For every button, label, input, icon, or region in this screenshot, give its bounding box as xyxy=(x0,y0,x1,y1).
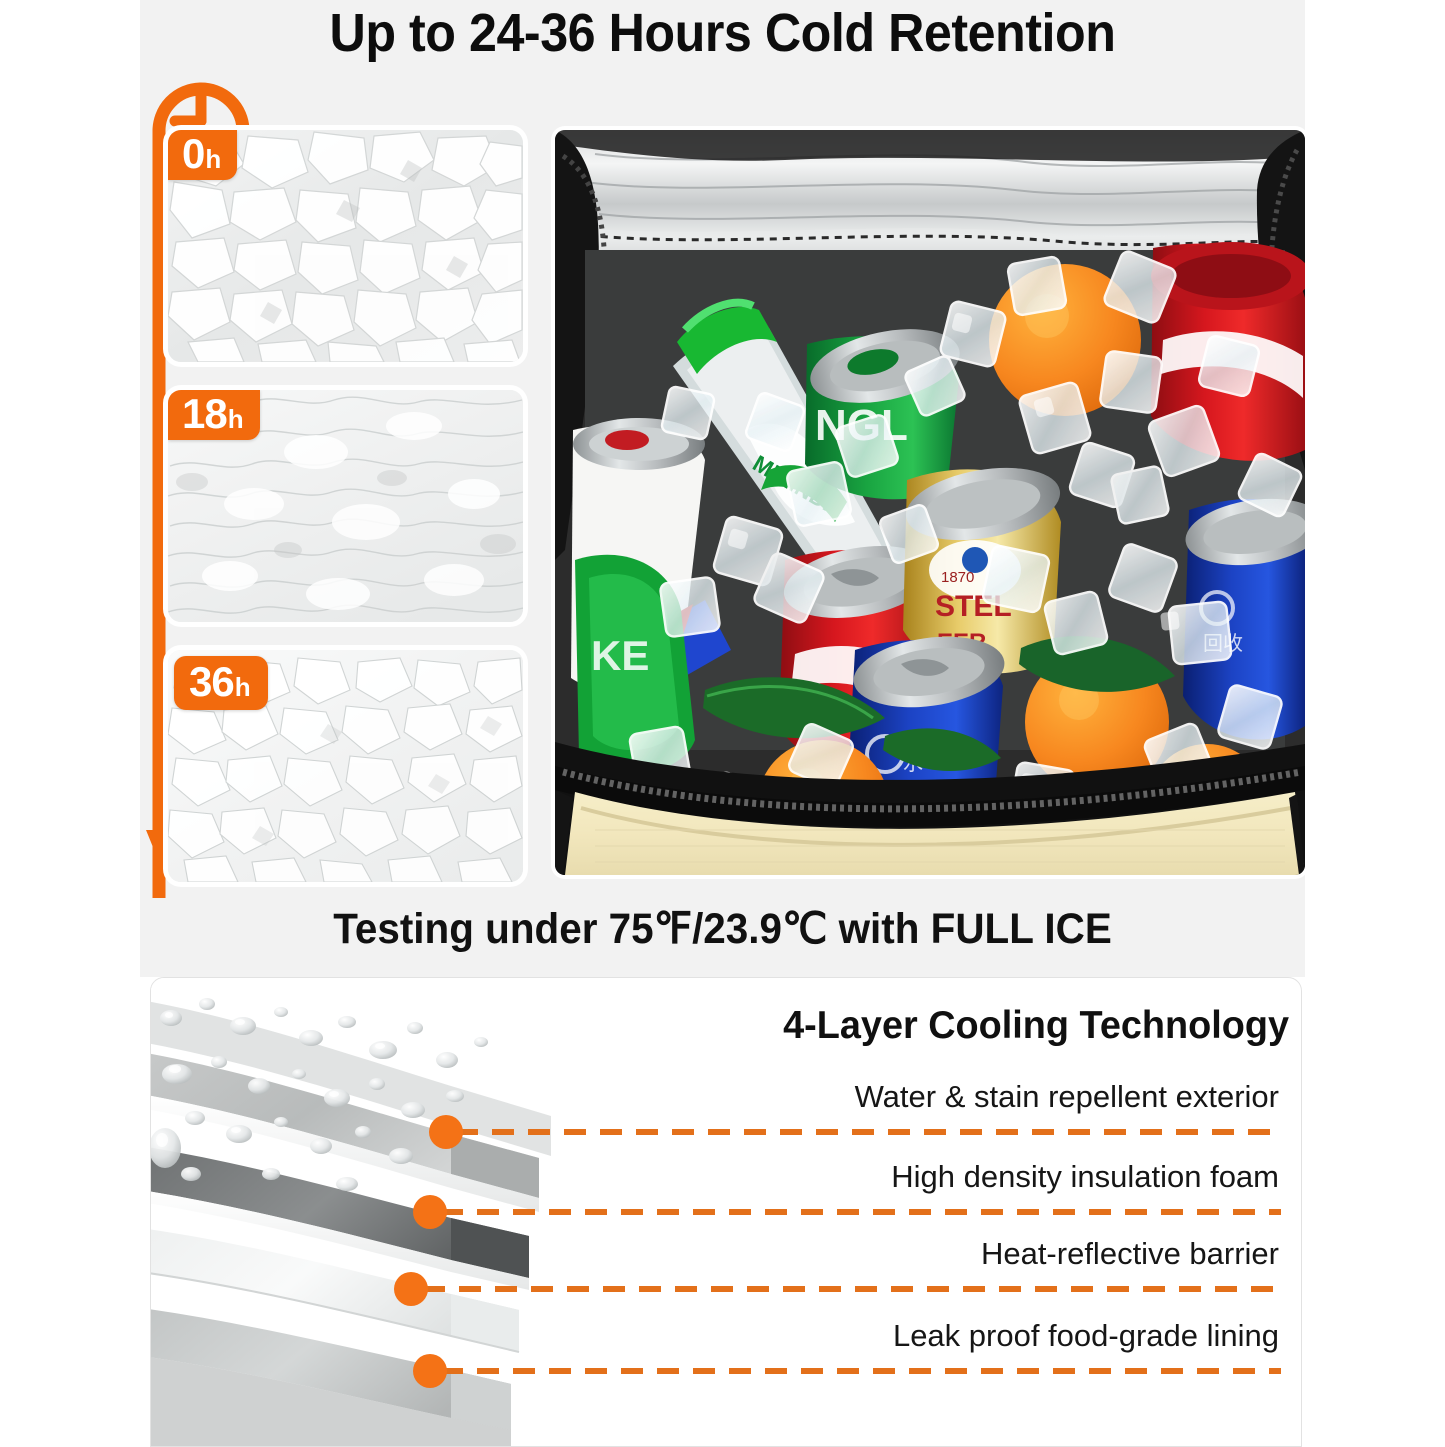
layer-connector-3 xyxy=(423,1286,1281,1292)
layer-connector-4 xyxy=(441,1368,1281,1374)
testing-caption: Testing under 75℉/23.9℃ with FULL ICE xyxy=(175,898,1270,960)
layer-marker-dot-1 xyxy=(429,1115,463,1149)
ice-timeline-list: 0h xyxy=(168,130,523,882)
time-badge-36h: 36h xyxy=(174,656,268,710)
ice-stage-36: 36h xyxy=(168,650,523,882)
svg-text:KE: KE xyxy=(591,632,649,679)
layer-connector-1 xyxy=(456,1129,1281,1135)
cooler-bag-photo: NC MIRINDA NGL xyxy=(555,130,1305,875)
time-badge-unit: h xyxy=(235,674,251,700)
time-badge-value: 0 xyxy=(182,133,204,175)
layer-marker-dot-4 xyxy=(413,1354,447,1388)
time-badge-value: 36 xyxy=(189,661,234,703)
infographic-page: Up to 24-36 Hours Cold Retention xyxy=(0,0,1445,1445)
time-badge-unit: h xyxy=(205,146,221,172)
page-title: Up to 24-36 Hours Cold Retention xyxy=(181,2,1264,64)
time-badge-18h: 18h xyxy=(168,390,260,440)
time-badge-value: 18 xyxy=(182,393,227,435)
time-badge-unit: h xyxy=(228,406,244,432)
time-badge-0h: 0h xyxy=(168,130,237,180)
cooling-technology-section: 4-Layer Cooling Technology Water & stain… xyxy=(150,977,1302,1447)
svg-text:1870: 1870 xyxy=(941,569,974,586)
layer-connector-2 xyxy=(441,1209,1281,1215)
ice-stage-18: 18h xyxy=(168,390,523,622)
layer-label-3: Heat-reflective barrier xyxy=(981,1236,1279,1272)
ice-stage-0: 0h xyxy=(168,130,523,362)
layer-label-1: Water & stain repellent exterior xyxy=(855,1079,1279,1115)
layer-label-4: Leak proof food-grade lining xyxy=(893,1318,1279,1354)
layer-marker-dot-2 xyxy=(413,1195,447,1229)
section-title: 4-Layer Cooling Technology xyxy=(728,1002,1289,1050)
layer-marker-dot-3 xyxy=(394,1272,428,1306)
layer-label-2: High density insulation foam xyxy=(891,1159,1279,1195)
